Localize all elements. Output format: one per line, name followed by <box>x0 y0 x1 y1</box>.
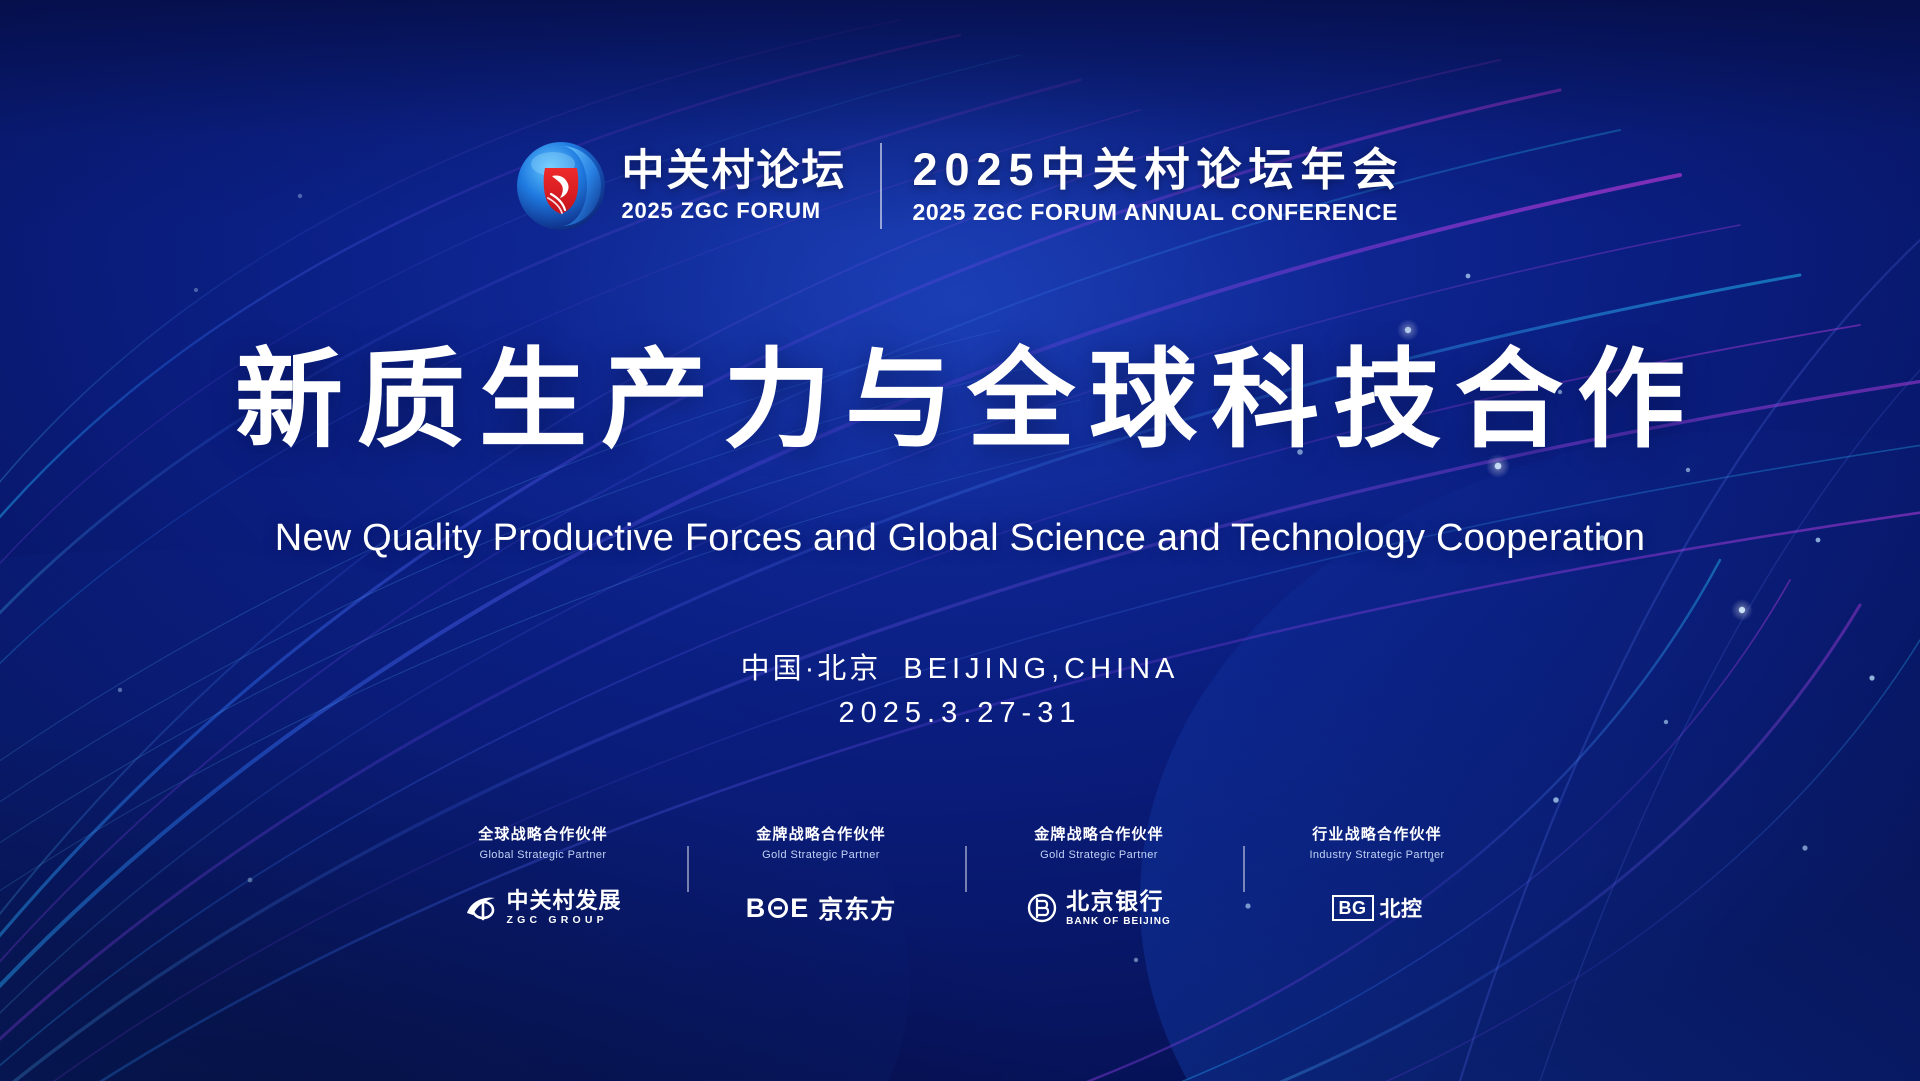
brand-name-en: 2025 ZGC FORUM <box>621 198 846 223</box>
conference-text: 2025中关村论坛年会 2025 ZGC FORUM ANNUAL CONFER… <box>912 146 1404 225</box>
sponsor-industry-strategic-partner: 行业战略合作伙伴 Industry Strategic Partner BG 北… <box>1259 826 1495 928</box>
event-location-cn: 中国·北京 <box>741 653 882 685</box>
sponsor-name-en: BOEBE <box>746 893 810 924</box>
sponsor-name-cn: 中关村发展 <box>506 890 621 912</box>
sponsor-name-cn: 京东方 <box>818 890 896 926</box>
zgc-forum-emblem-icon <box>515 140 607 232</box>
sponsor-name-cn: 北京银行 <box>1066 890 1171 913</box>
header-lockup: 中关村论坛 2025 ZGC FORUM 2025中关村论坛年会 2025 ZG… <box>0 140 1920 232</box>
event-date: 2025.3.27-31 <box>0 694 1920 733</box>
zgc-group-logo-icon: 中关村发展 ZGC GROUP <box>464 888 621 928</box>
bg-beikong-logo-icon: BG 北控 <box>1332 888 1423 928</box>
sponsor-name-cn: 北控 <box>1380 893 1423 923</box>
bank-of-beijing-logo-icon: 北京银行 BANK OF BEIJING <box>1027 888 1171 928</box>
sponsor-tier-cn: 金牌战略合作伙伴 <box>1034 826 1164 845</box>
sponsor-tier-en: Gold Strategic Partner <box>1040 848 1158 862</box>
sponsor-gold-strategic-partner-bob: 金牌战略合作伙伴 Gold Strategic Partner 北京银行 BAN… <box>981 826 1217 928</box>
sponsor-name-en: BANK OF BEIJING <box>1066 917 1171 927</box>
sponsor-row: 全球战略合作伙伴 Global Strategic Partner 中关村发展 … <box>425 826 1495 928</box>
sponsor-tier-cn: 行业战略合作伙伴 <box>1312 826 1442 845</box>
conference-name-cn: 2025中关村论坛年会 <box>912 146 1404 194</box>
sponsor-tier-en: Gold Strategic Partner <box>762 848 880 862</box>
conference-name-en: 2025 ZGC FORUM ANNUAL CONFERENCE <box>912 199 1404 225</box>
event-location-en: BEIJING,CHINA <box>903 653 1179 685</box>
conference-poster: 中关村论坛 2025 ZGC FORUM 2025中关村论坛年会 2025 ZG… <box>0 0 1920 1081</box>
sponsor-tier-cn: 全球战略合作伙伴 <box>478 826 608 845</box>
sponsor-name-en: BG <box>1332 895 1374 922</box>
brand-text: 中关村论坛 2025 ZGC FORUM <box>621 149 846 224</box>
main-title-cn: 新质生产力与全球科技合作 <box>0 340 1920 461</box>
sponsor-tier-en: Industry Strategic Partner <box>1309 848 1444 862</box>
sponsor-tier-cn: 金牌战略合作伙伴 <box>756 826 886 845</box>
sponsor-gold-strategic-partner-boe: 金牌战略合作伙伴 Gold Strategic Partner BOEBE 京东… <box>703 826 939 928</box>
event-location: 中国·北京BEIJING,CHINA <box>0 650 1920 689</box>
main-title-en: New Quality Productive Forces and Global… <box>0 516 1920 562</box>
sponsor-global-strategic-partner: 全球战略合作伙伴 Global Strategic Partner 中关村发展 … <box>425 826 661 928</box>
boe-logo-icon: BOEBE 京东方 <box>746 888 897 928</box>
sponsor-name-en: ZGC GROUP <box>506 915 621 926</box>
header-divider <box>880 143 882 229</box>
sponsor-tier-en: Global Strategic Partner <box>480 848 607 862</box>
brand-name-cn: 中关村论坛 <box>621 149 846 195</box>
